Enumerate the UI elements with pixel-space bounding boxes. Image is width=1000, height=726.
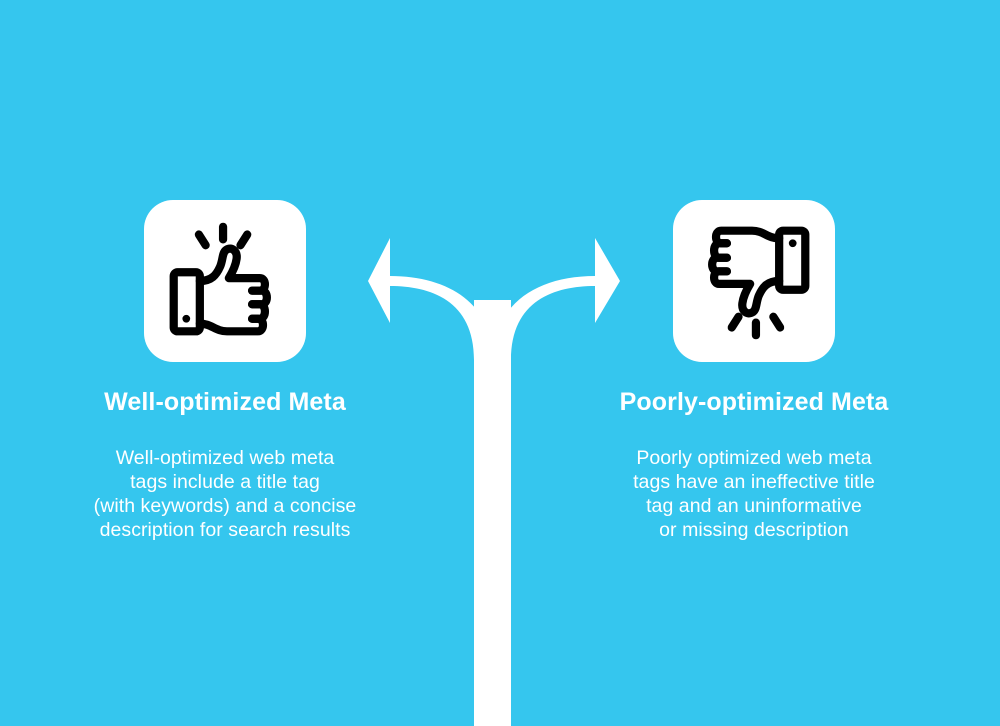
body-line: tag and an uninformative <box>554 494 954 518</box>
column-well-optimized: Well-optimized Meta Well-optimized web m… <box>25 386 425 542</box>
body-line: tags include a title tag <box>25 470 425 494</box>
thumbs-up-card <box>144 200 306 362</box>
thumbs-down-card <box>673 200 835 362</box>
body-line: tags have an ineffective title <box>554 470 954 494</box>
body-line: description for search results <box>25 518 425 542</box>
column-body-well-optimized: Well-optimized web meta tags include a t… <box>25 418 425 542</box>
thumbs-down-icon <box>696 221 812 341</box>
column-heading-poorly-optimized: Poorly-optimized Meta <box>554 386 954 418</box>
infographic-canvas: Well-optimized Meta Well-optimized web m… <box>0 0 1000 726</box>
column-body-poorly-optimized: Poorly optimized web meta tags have an i… <box>554 418 954 542</box>
two-way-fork-arrow-icon <box>0 0 1000 726</box>
thumbs-up-icon <box>167 221 283 341</box>
body-line: Well-optimized web meta <box>25 446 425 470</box>
column-poorly-optimized: Poorly-optimized Meta Poorly optimized w… <box>554 386 954 542</box>
body-line: or missing description <box>554 518 954 542</box>
column-heading-well-optimized: Well-optimized Meta <box>25 386 425 418</box>
body-line: (with keywords) and a concise <box>25 494 425 518</box>
body-line: Poorly optimized web meta <box>554 446 954 470</box>
